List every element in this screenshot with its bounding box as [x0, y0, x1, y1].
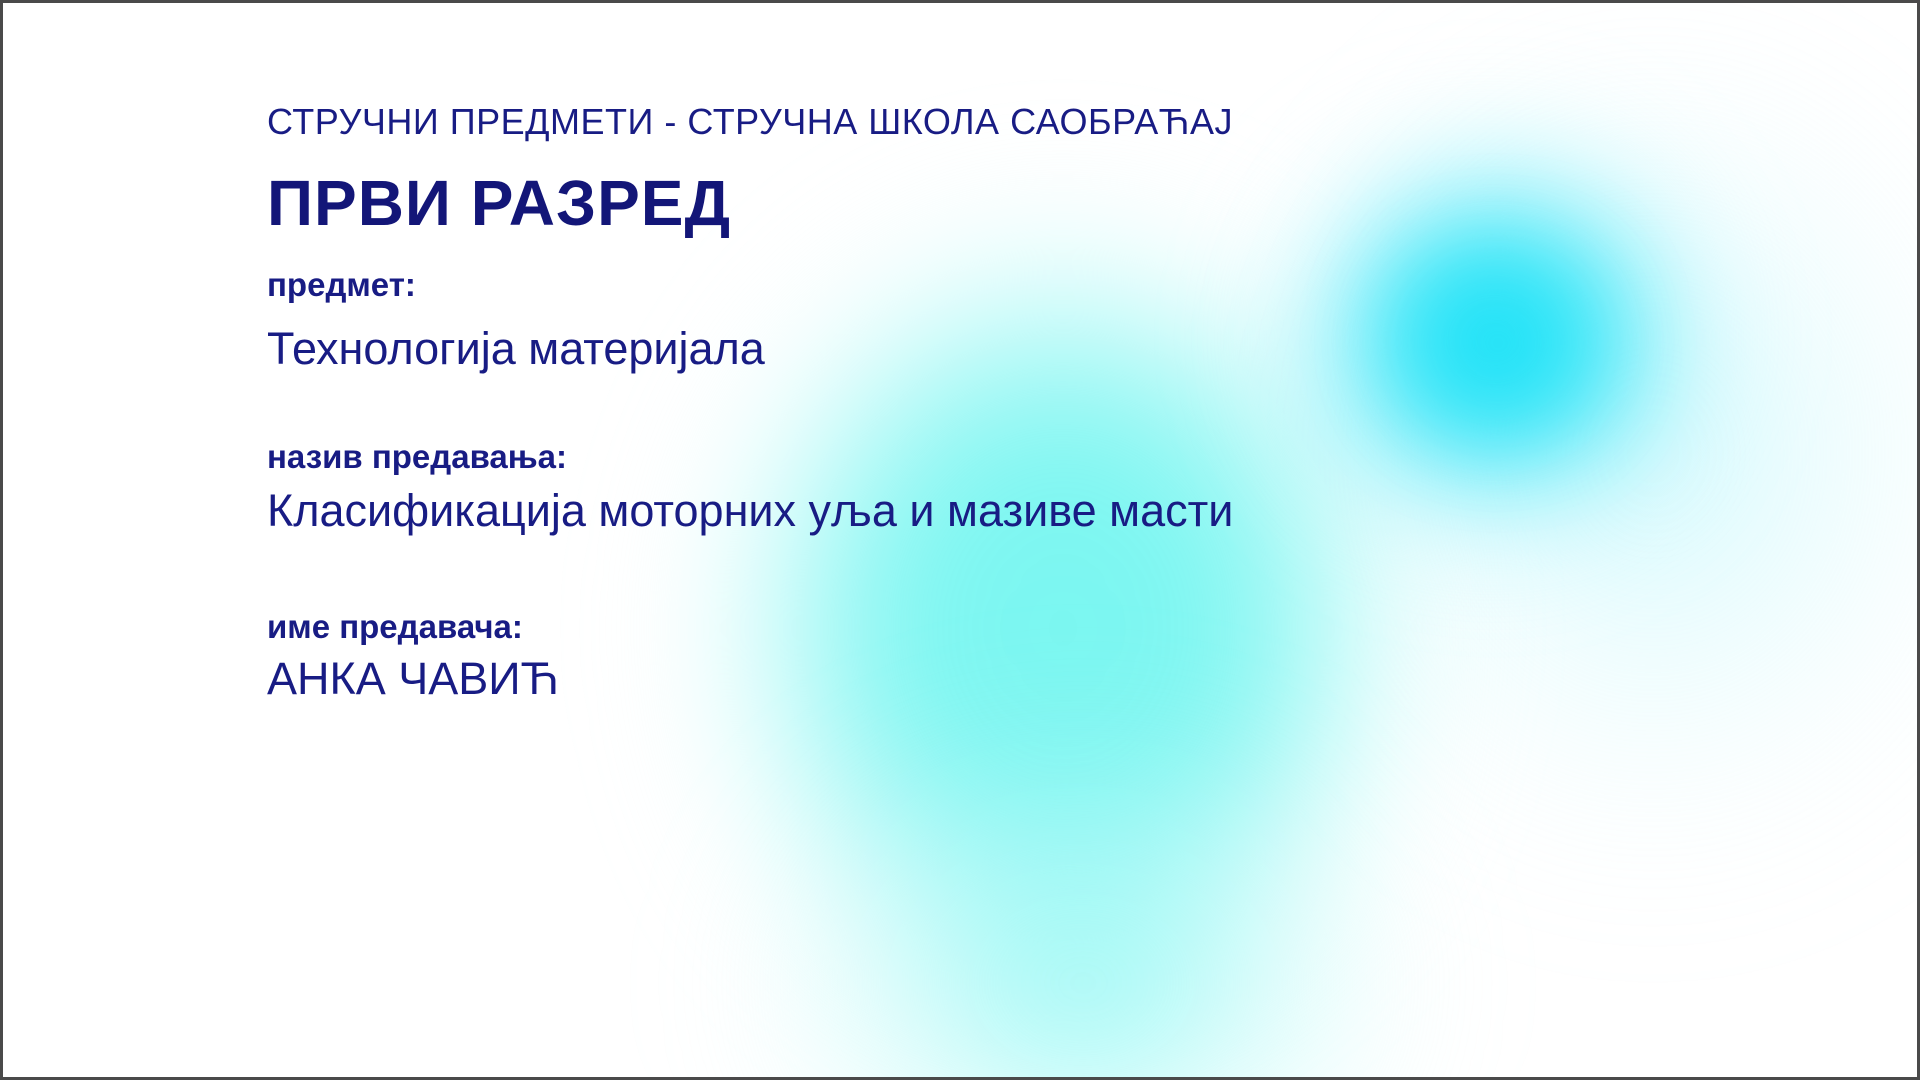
lecture-value: Класификација моторних уља и мазиве маст…: [267, 483, 1233, 539]
grade-title: ПРВИ РАЗРЕД: [267, 167, 1233, 239]
lecture-label: назив предавања:: [267, 437, 1233, 477]
aqua-bottom-wash-blob: [743, 723, 1423, 1077]
cyan-halo-blob: [1303, 43, 1917, 863]
lecture-group: назив предавања: Класификација моторних …: [267, 437, 1233, 539]
subject-group: предмет: Технологија материјала: [267, 265, 1233, 377]
cyan-accent-blob: [1258, 123, 1728, 553]
subject-value: Технологија материјала: [267, 321, 1233, 377]
lecturer-value: АНКА ЧАВИЋ: [267, 651, 1233, 707]
slide-content: СТРУЧНИ ПРЕДМЕТИ - СТРУЧНА ШКОЛА САОБРАЋ…: [267, 99, 1233, 707]
cyan-core-blob: [1383, 238, 1613, 448]
lecturer-group: име предавача: АНКА ЧАВИЋ: [267, 607, 1233, 707]
course-category-heading: СТРУЧНИ ПРЕДМЕТИ - СТРУЧНА ШКОЛА САОБРАЋ…: [267, 99, 1233, 145]
title-slide: СТРУЧНИ ПРЕДМЕТИ - СТРУЧНА ШКОЛА САОБРАЋ…: [0, 0, 1920, 1080]
subject-label: предмет:: [267, 265, 1233, 305]
lecturer-label: име предавача:: [267, 607, 1233, 647]
